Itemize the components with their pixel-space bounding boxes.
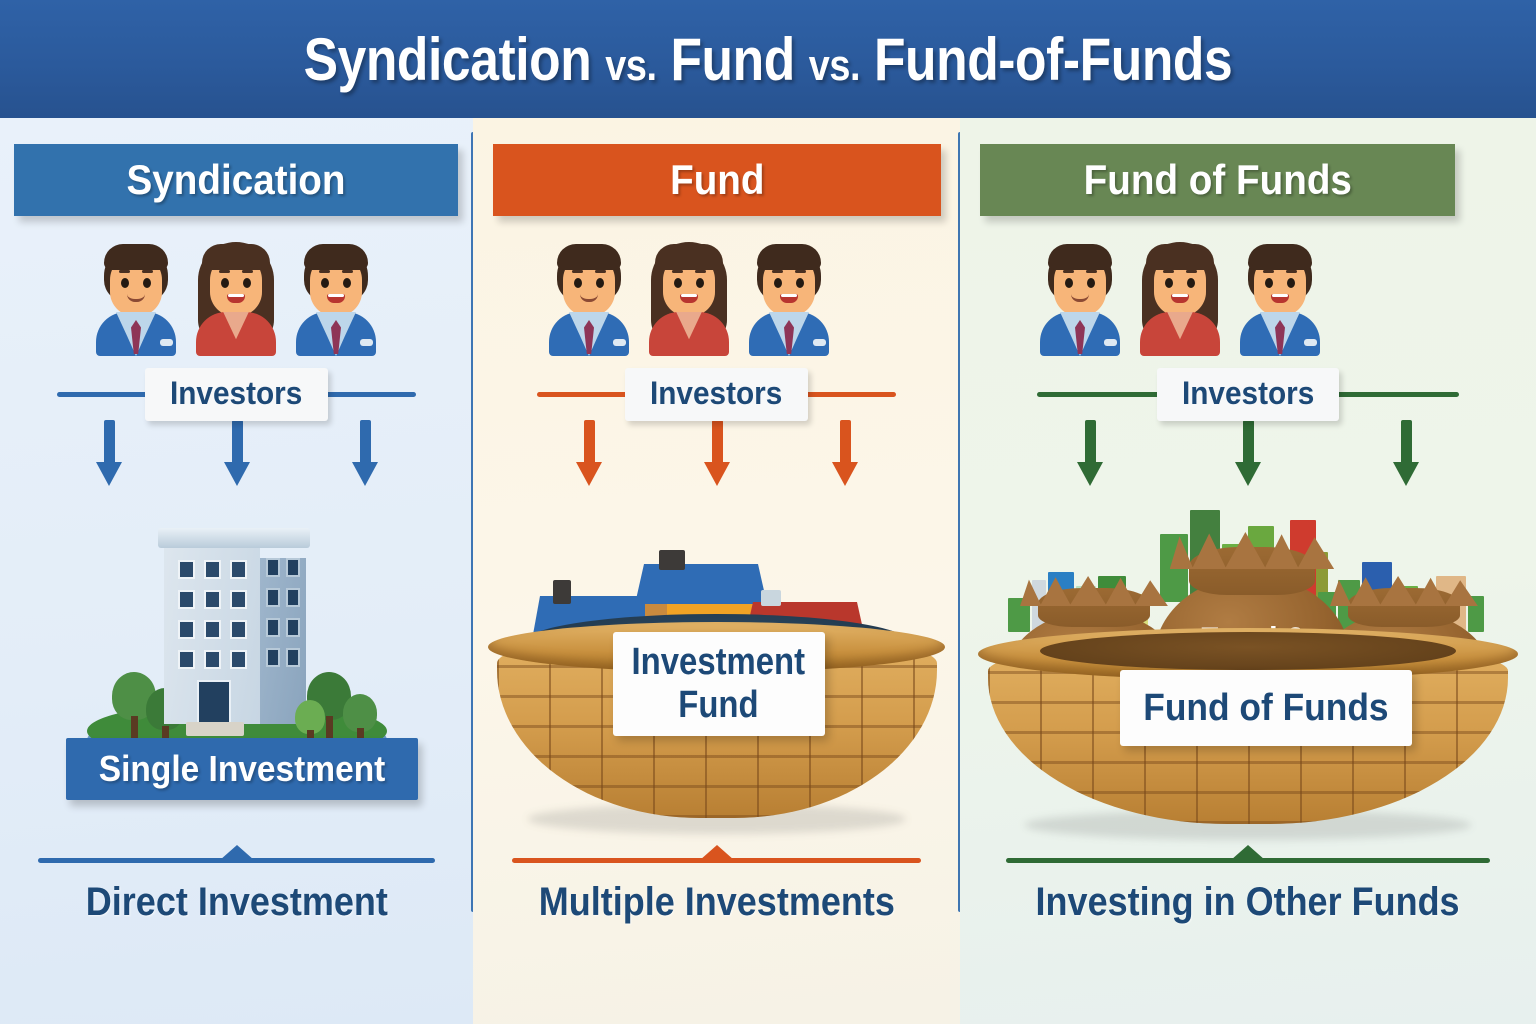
arrows-fund-of-funds bbox=[960, 420, 1536, 490]
person-avatar-icon bbox=[643, 240, 735, 356]
arrows-syndication bbox=[0, 420, 473, 490]
banner-syndication: Syndication bbox=[14, 144, 458, 216]
person-avatar-icon bbox=[743, 240, 835, 356]
arrow-down-icon bbox=[1393, 420, 1419, 490]
building-shape bbox=[164, 528, 310, 724]
person-avatar-icon bbox=[290, 240, 382, 356]
page-title: Syndication vs. Fund vs. Fund-of-Funds bbox=[304, 25, 1233, 94]
fund-of-funds-card: Fund of Funds bbox=[1120, 670, 1412, 746]
investors-chip-fund: Investors bbox=[625, 368, 807, 421]
caption-syndication: Direct Investment bbox=[0, 880, 473, 925]
page-title-bar: Syndication vs. Fund vs. Fund-of-Funds bbox=[0, 0, 1536, 118]
investment-fund-card: InvestmentFund bbox=[613, 632, 825, 736]
arrow-down-icon bbox=[704, 420, 730, 490]
title-segment-1: Syndication bbox=[304, 26, 592, 93]
investors-chip-syndication: Investors bbox=[145, 368, 327, 421]
arrow-down-icon bbox=[96, 420, 122, 490]
person-avatar-icon bbox=[1034, 240, 1126, 356]
title-segment-3: Fund-of-Funds bbox=[874, 26, 1232, 93]
title-vs-1: vs. bbox=[605, 41, 656, 90]
banner-label-fund-of-funds: Fund of Funds bbox=[1083, 156, 1351, 204]
investors-label-row-syndication: Investors bbox=[0, 368, 473, 421]
caption-label-fund-of-funds: Investing in Other Funds bbox=[1036, 880, 1460, 925]
person-avatar-icon bbox=[1234, 240, 1326, 356]
single-investment-ribbon: Single Investment bbox=[66, 738, 418, 800]
basket-icon: Fund 1 Fund 2 Fund 3 bbox=[988, 494, 1508, 824]
person-avatar-icon bbox=[1134, 240, 1226, 356]
banner-label-syndication: Syndication bbox=[126, 156, 345, 204]
fund-of-funds-label: Fund of Funds bbox=[1143, 687, 1388, 730]
person-avatar-icon bbox=[543, 240, 635, 356]
infographic-root: Syndication vs. Fund vs. Fund-of-Funds S… bbox=[0, 0, 1536, 1024]
comparison-panels: Syndication bbox=[0, 118, 1536, 1024]
investors-chip-fund-of-funds: Investors bbox=[1157, 368, 1339, 421]
caption-fund-of-funds: Investing in Other Funds bbox=[960, 880, 1536, 925]
office-building-icon bbox=[0, 488, 473, 778]
banner-fund: Fund bbox=[493, 144, 941, 216]
arrow-down-icon bbox=[224, 420, 250, 490]
column-fund: Fund bbox=[473, 118, 960, 1024]
basket-icon: InvestmentFund bbox=[497, 518, 937, 818]
arrow-down-icon bbox=[1235, 420, 1261, 490]
investors-avatars-syndication bbox=[90, 240, 382, 356]
investors-label-fund-of-funds: Investors bbox=[1182, 375, 1314, 412]
arrow-down-icon bbox=[1077, 420, 1103, 490]
investors-label-fund: Investors bbox=[650, 375, 782, 412]
investors-label-syndication: Investors bbox=[170, 375, 302, 412]
banner-fund-of-funds: Fund of Funds bbox=[980, 144, 1455, 216]
title-segment-2: Fund bbox=[671, 26, 795, 93]
column-fund-of-funds: Fund of Funds bbox=[960, 118, 1536, 1024]
column-syndication: Syndication bbox=[0, 118, 473, 1024]
person-avatar-icon bbox=[90, 240, 182, 356]
arrow-down-icon bbox=[576, 420, 602, 490]
investors-label-row-fund: Investors bbox=[473, 368, 960, 421]
investors-avatars-fund bbox=[543, 240, 835, 356]
investors-label-row-fund-of-funds: Investors bbox=[960, 368, 1536, 421]
banner-label-fund: Fund bbox=[670, 156, 764, 204]
person-avatar-icon bbox=[190, 240, 282, 356]
caption-label-fund: Multiple Investments bbox=[538, 880, 894, 925]
title-vs-2: vs. bbox=[809, 41, 860, 90]
arrow-down-icon bbox=[832, 420, 858, 490]
caption-label-syndication: Direct Investment bbox=[85, 880, 387, 925]
single-investment-label: Single Investment bbox=[99, 748, 386, 790]
investment-fund-label: InvestmentFund bbox=[625, 641, 812, 726]
caption-fund: Multiple Investments bbox=[473, 880, 960, 925]
arrows-fund bbox=[473, 420, 960, 490]
investors-avatars-fund-of-funds bbox=[1034, 240, 1326, 356]
arrow-down-icon bbox=[352, 420, 378, 490]
